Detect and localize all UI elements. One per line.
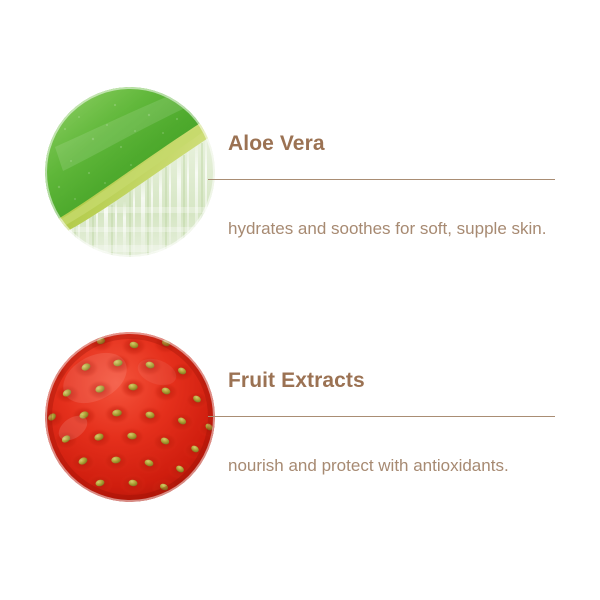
feature-title: Fruit Extracts [228, 370, 558, 391]
feature-block-fruit-extracts: Fruit Extracts nourish and protect with … [0, 332, 600, 522]
feature-description: nourish and protect with antioxidants. [228, 453, 558, 478]
feature-title: Aloe Vera [228, 133, 558, 154]
feature-text-fruit-extracts: Fruit Extracts nourish and protect with … [228, 370, 558, 478]
aloe-vera-photo [45, 87, 215, 257]
feature-description: hydrates and soothes for soft, supple sk… [228, 216, 558, 241]
feature-text-aloe-vera: Aloe Vera hydrates and soothes for soft,… [228, 133, 558, 241]
strawberry-photo [45, 332, 215, 502]
feature-block-aloe-vera: Aloe Vera hydrates and soothes for soft,… [0, 87, 600, 277]
